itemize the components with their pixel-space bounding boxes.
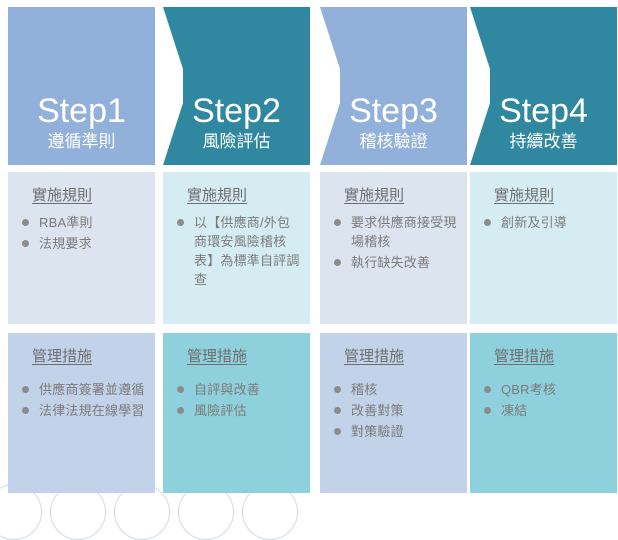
step-1-management-panel[interactable]: 管理措施 供應商簽署並遵循 法律法規在線學習	[8, 333, 155, 493]
step-4-title: Step4	[470, 92, 617, 130]
step-column-4[interactable]: Step4 持續改善 實施規則 創新及引導 管理措施	[470, 0, 617, 503]
step-3-management-panel[interactable]: 管理措施 稽核 改善對策 對策驗證	[320, 333, 467, 493]
list-item-label: 執行缺失改善	[351, 255, 430, 270]
step-1-implementation-panel[interactable]: 實施規則 RBA準則 法規要求	[8, 172, 155, 324]
list-item-label: 法律法規在線學習	[39, 403, 145, 418]
bullet-icon	[334, 219, 341, 226]
list-item: 創新及引導	[482, 213, 609, 232]
step-3-implementation-list: 要求供應商接受現場稽核 執行缺失改善	[332, 213, 459, 272]
step-3-management-list: 稽核 改善對策 對策驗證	[332, 380, 459, 441]
bullet-icon	[177, 407, 184, 414]
list-item: 自評與改善	[175, 380, 302, 399]
step-column-1[interactable]: Step1 遵循準則 實施規則 RBA準則 法規要求	[8, 0, 155, 503]
step-3-header-text: Step3 稽核驗證	[320, 92, 467, 153]
step-4-implementation-panel[interactable]: 實施規則 創新及引導	[470, 172, 617, 324]
step-1-implementation-heading: 實施規則	[32, 186, 92, 205]
step-4-implementation-heading: 實施規則	[494, 186, 554, 205]
process-diagram: Step1 遵循準則 實施規則 RBA準則 法規要求	[0, 0, 618, 503]
step-1-management-list: 供應商簽署並遵循 法律法規在線學習	[20, 380, 147, 420]
bullet-icon	[177, 386, 184, 393]
list-item: 風險評估	[175, 401, 302, 420]
list-item: 對策驗證	[332, 422, 459, 441]
step-2-management-list: 自評與改善 風險評估	[175, 380, 302, 420]
list-item: 要求供應商接受現場稽核	[332, 213, 459, 251]
list-item-label: 法規要求	[39, 236, 92, 251]
list-item-label: RBA準則	[39, 215, 93, 230]
bullet-icon	[22, 240, 29, 247]
step-3-header[interactable]: Step3 稽核驗證	[320, 7, 467, 165]
step-1-management-heading: 管理措施	[32, 347, 92, 366]
bullet-icon	[22, 219, 29, 226]
step-1-title: Step1	[8, 92, 155, 130]
list-item-label: 以【供應商/外包商環安風險稽核表】為標準自評調查	[194, 215, 300, 287]
list-item: QBR考核	[482, 380, 609, 399]
bullet-icon	[177, 219, 184, 226]
step-4-implementation-list: 創新及引導	[482, 213, 609, 232]
step-2-management-panel[interactable]: 管理措施 自評與改善 風險評估	[163, 333, 310, 493]
step-2-implementation-list: 以【供應商/外包商環安風險稽核表】為標準自評調查	[175, 213, 302, 289]
step-4-header-text: Step4 持續改善	[470, 92, 617, 153]
list-item: 凍結	[482, 401, 609, 420]
step-2-title: Step2	[163, 92, 310, 130]
step-4-management-panel[interactable]: 管理措施 QBR考核 凍結	[470, 333, 617, 493]
bullet-icon	[484, 407, 491, 414]
list-item: 稽核	[332, 380, 459, 399]
bullet-icon	[334, 407, 341, 414]
step-2-subtitle: 風險評估	[163, 131, 310, 153]
step-3-title: Step3	[320, 92, 467, 130]
step-2-header[interactable]: Step2 風險評估	[163, 7, 310, 165]
list-item: 供應商簽署並遵循	[20, 380, 147, 399]
list-item-label: 對策驗證	[351, 424, 404, 439]
step-1-header[interactable]: Step1 遵循準則	[8, 7, 155, 165]
step-2-management-heading: 管理措施	[187, 347, 247, 366]
list-item: 法規要求	[20, 234, 147, 253]
bullet-icon	[22, 407, 29, 414]
list-item-label: 風險評估	[194, 403, 247, 418]
step-3-subtitle: 稽核驗證	[320, 131, 467, 153]
step-1-implementation-list: RBA準則 法規要求	[20, 213, 147, 253]
list-item-label: QBR考核	[501, 382, 556, 397]
list-item-label: 稽核	[351, 382, 377, 397]
list-item-label: 創新及引導	[501, 215, 567, 230]
step-2-header-text: Step2 風險評估	[163, 92, 310, 153]
step-4-header[interactable]: Step4 持續改善	[470, 7, 617, 165]
list-item-label: 改善對策	[351, 403, 404, 418]
list-item: RBA準則	[20, 213, 147, 232]
list-item-label: 供應商簽署並遵循	[39, 382, 145, 397]
step-1-subtitle: 遵循準則	[8, 131, 155, 153]
list-item-label: 自評與改善	[194, 382, 260, 397]
step-column-3[interactable]: Step3 稽核驗證 實施規則 要求供應商接受現場稽核 執行缺失改善	[320, 0, 467, 503]
step-3-management-heading: 管理措施	[344, 347, 404, 366]
bullet-icon	[22, 386, 29, 393]
step-4-management-list: QBR考核 凍結	[482, 380, 609, 420]
step-column-2[interactable]: Step2 風險評估 實施規則 以【供應商/外包商環安風險稽核表】為標準自評調查…	[163, 0, 310, 503]
step-1-header-text: Step1 遵循準則	[8, 92, 155, 153]
bullet-icon	[334, 428, 341, 435]
list-item-label: 凍結	[501, 403, 527, 418]
step-2-implementation-heading: 實施規則	[187, 186, 247, 205]
step-4-subtitle: 持續改善	[470, 131, 617, 153]
bullet-icon	[484, 219, 491, 226]
bullet-icon	[484, 386, 491, 393]
list-item: 改善對策	[332, 401, 459, 420]
list-item: 法律法規在線學習	[20, 401, 147, 420]
step-3-implementation-panel[interactable]: 實施規則 要求供應商接受現場稽核 執行缺失改善	[320, 172, 467, 324]
step-2-implementation-panel[interactable]: 實施規則 以【供應商/外包商環安風險稽核表】為標準自評調查	[163, 172, 310, 324]
list-item: 以【供應商/外包商環安風險稽核表】為標準自評調查	[175, 213, 302, 289]
step-3-implementation-heading: 實施規則	[344, 186, 404, 205]
list-item-label: 要求供應商接受現場稽核	[351, 215, 457, 249]
bullet-icon	[334, 259, 341, 266]
step-4-management-heading: 管理措施	[494, 347, 554, 366]
bullet-icon	[334, 386, 341, 393]
list-item: 執行缺失改善	[332, 253, 459, 272]
